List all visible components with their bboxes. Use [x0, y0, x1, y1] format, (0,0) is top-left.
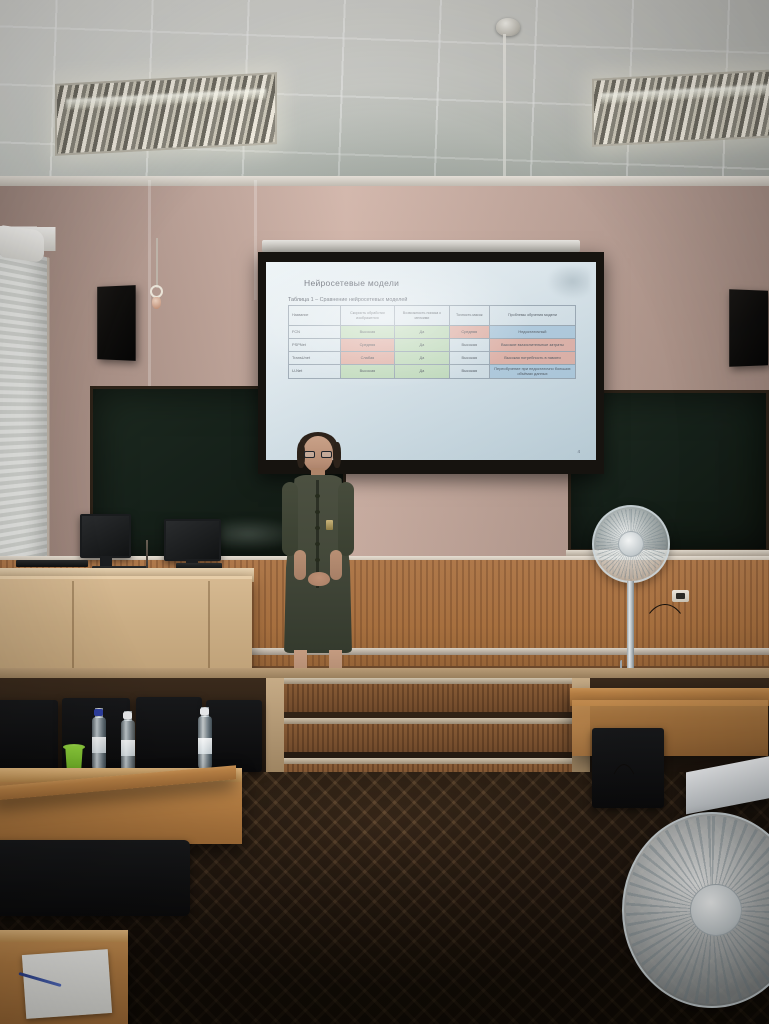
water-bottle[interactable] — [92, 717, 106, 771]
cell-name: PSPNet — [289, 339, 341, 352]
sheet-of-paper[interactable] — [22, 949, 112, 1019]
chair[interactable] — [0, 700, 58, 772]
cell-problem: Высокая потребность в памяти — [489, 352, 575, 365]
chair[interactable] — [206, 700, 262, 772]
bottle-label — [121, 740, 135, 756]
light-cord — [156, 238, 158, 288]
cell-speed: Средняя — [340, 339, 395, 352]
cell-small: Да — [395, 365, 450, 379]
presenter-forearm-left — [294, 550, 306, 580]
light-bulb-icon — [152, 297, 161, 309]
monitor-stand-left — [100, 556, 112, 566]
window-blinds — [0, 246, 49, 576]
projector-screen-rail — [262, 240, 580, 252]
fan-hub — [618, 531, 644, 557]
bottle-cap — [123, 712, 132, 719]
ceiling-light-panel-left — [55, 72, 277, 156]
cell-accuracy: Высокая — [449, 339, 489, 352]
cell-small: Да — [395, 352, 450, 365]
comparison-table: Название Скорость обработки изображения … — [288, 305, 576, 379]
wall-speaker-right — [729, 289, 768, 367]
presenter-forearm-right — [330, 550, 342, 580]
keyboard-left[interactable] — [16, 560, 88, 567]
table-header-row: Название Скорость обработки изображения … — [289, 306, 576, 326]
cell-problem: Недостаточный — [489, 326, 575, 339]
presenter-arm-right — [338, 482, 354, 556]
smoke-detector-icon — [496, 18, 520, 36]
cell-accuracy: Высокая — [449, 365, 489, 379]
cell-accuracy: Высокая — [449, 352, 489, 365]
bottle-cap — [200, 708, 209, 715]
bottle-label — [198, 738, 212, 754]
presenter-hair-right — [333, 442, 341, 468]
table-row: U-Net Высокая Да Высокая Переобучение пр… — [289, 365, 576, 379]
table-body: FCN Высокая Да Средняя Недостаточный PSP… — [289, 326, 576, 379]
table-row: TransUnet Слабая Да Высокая Высокая потр… — [289, 352, 576, 365]
monitor-right — [164, 519, 221, 561]
cell-problem: Высокие вычислительные затраты — [489, 339, 575, 352]
slide-title: Нейросетевые модели — [304, 278, 582, 288]
cell-name: TransUnet — [289, 352, 341, 365]
th-name: Название — [289, 306, 341, 326]
th-problem: Проблемы обучения модели — [489, 306, 575, 326]
dress-button — [315, 558, 320, 562]
ceiling-light-panel-right — [592, 69, 769, 147]
th-speed: Скорость обработки изображения — [340, 306, 395, 326]
th-small: Возможность поиска с мелкими — [395, 306, 450, 326]
power-outlet[interactable] — [672, 590, 689, 602]
dress-button — [315, 510, 320, 514]
chair[interactable] — [136, 697, 202, 771]
ceiling-conduit — [503, 34, 506, 186]
step-nose-1 — [282, 678, 574, 684]
dress-button — [315, 494, 320, 498]
bottle-cap — [94, 709, 103, 716]
th-accuracy: Точность масок — [449, 306, 489, 326]
cell-name: FCN — [289, 326, 341, 339]
slide-table-caption: Таблица 1 – Сравнение нейросетевых модел… — [288, 297, 582, 303]
table-row: FCN Высокая Да Средняя Недостаточный — [289, 326, 576, 339]
bottle-label — [92, 737, 106, 753]
cell-speed: Высокая — [340, 326, 395, 339]
front-desk-edge — [0, 930, 128, 942]
name-badge — [326, 520, 333, 530]
fan-cord-foreground — [604, 764, 644, 904]
dress-button — [315, 542, 320, 546]
presenter-hands — [308, 572, 330, 586]
monitor-left — [80, 514, 131, 558]
dress-button — [315, 526, 320, 530]
cell-speed: Слабая — [340, 352, 395, 365]
water-bottle[interactable] — [121, 720, 135, 774]
glasses-icon — [304, 451, 332, 458]
slide-page-number: 4 — [577, 449, 580, 454]
screen-surface: Нейросетевые модели Таблица 1 – Сравнени… — [266, 262, 596, 460]
presentation-slide: Нейросетевые модели Таблица 1 – Сравнени… — [266, 262, 596, 460]
step-nose-3 — [282, 758, 574, 764]
cell-small: Да — [395, 339, 450, 352]
water-bottle[interactable] — [198, 716, 212, 770]
wall-seam-mid — [254, 180, 257, 300]
cell-accuracy: Средняя — [449, 326, 489, 339]
ceiling-cornice — [0, 176, 769, 186]
air-conditioner — [0, 225, 44, 263]
fan-hub-foreground — [690, 884, 742, 936]
cell-small: Да — [395, 326, 450, 339]
classroom-photo: Нейросетевые модели Таблица 1 – Сравнени… — [0, 0, 769, 1024]
wall-speaker-left — [97, 285, 135, 361]
cell-problem: Переобучение при недостаточно больших об… — [489, 365, 575, 379]
cell-speed: Высокая — [340, 365, 395, 379]
presenter-arm-left — [282, 482, 298, 556]
presenter — [270, 436, 366, 686]
table-row: PSPNet Средняя Да Высокая Высокие вычисл… — [289, 339, 576, 352]
cell-name: U-Net — [289, 365, 341, 379]
step-nose-2 — [282, 718, 574, 724]
chair-foreground[interactable] — [0, 840, 190, 916]
